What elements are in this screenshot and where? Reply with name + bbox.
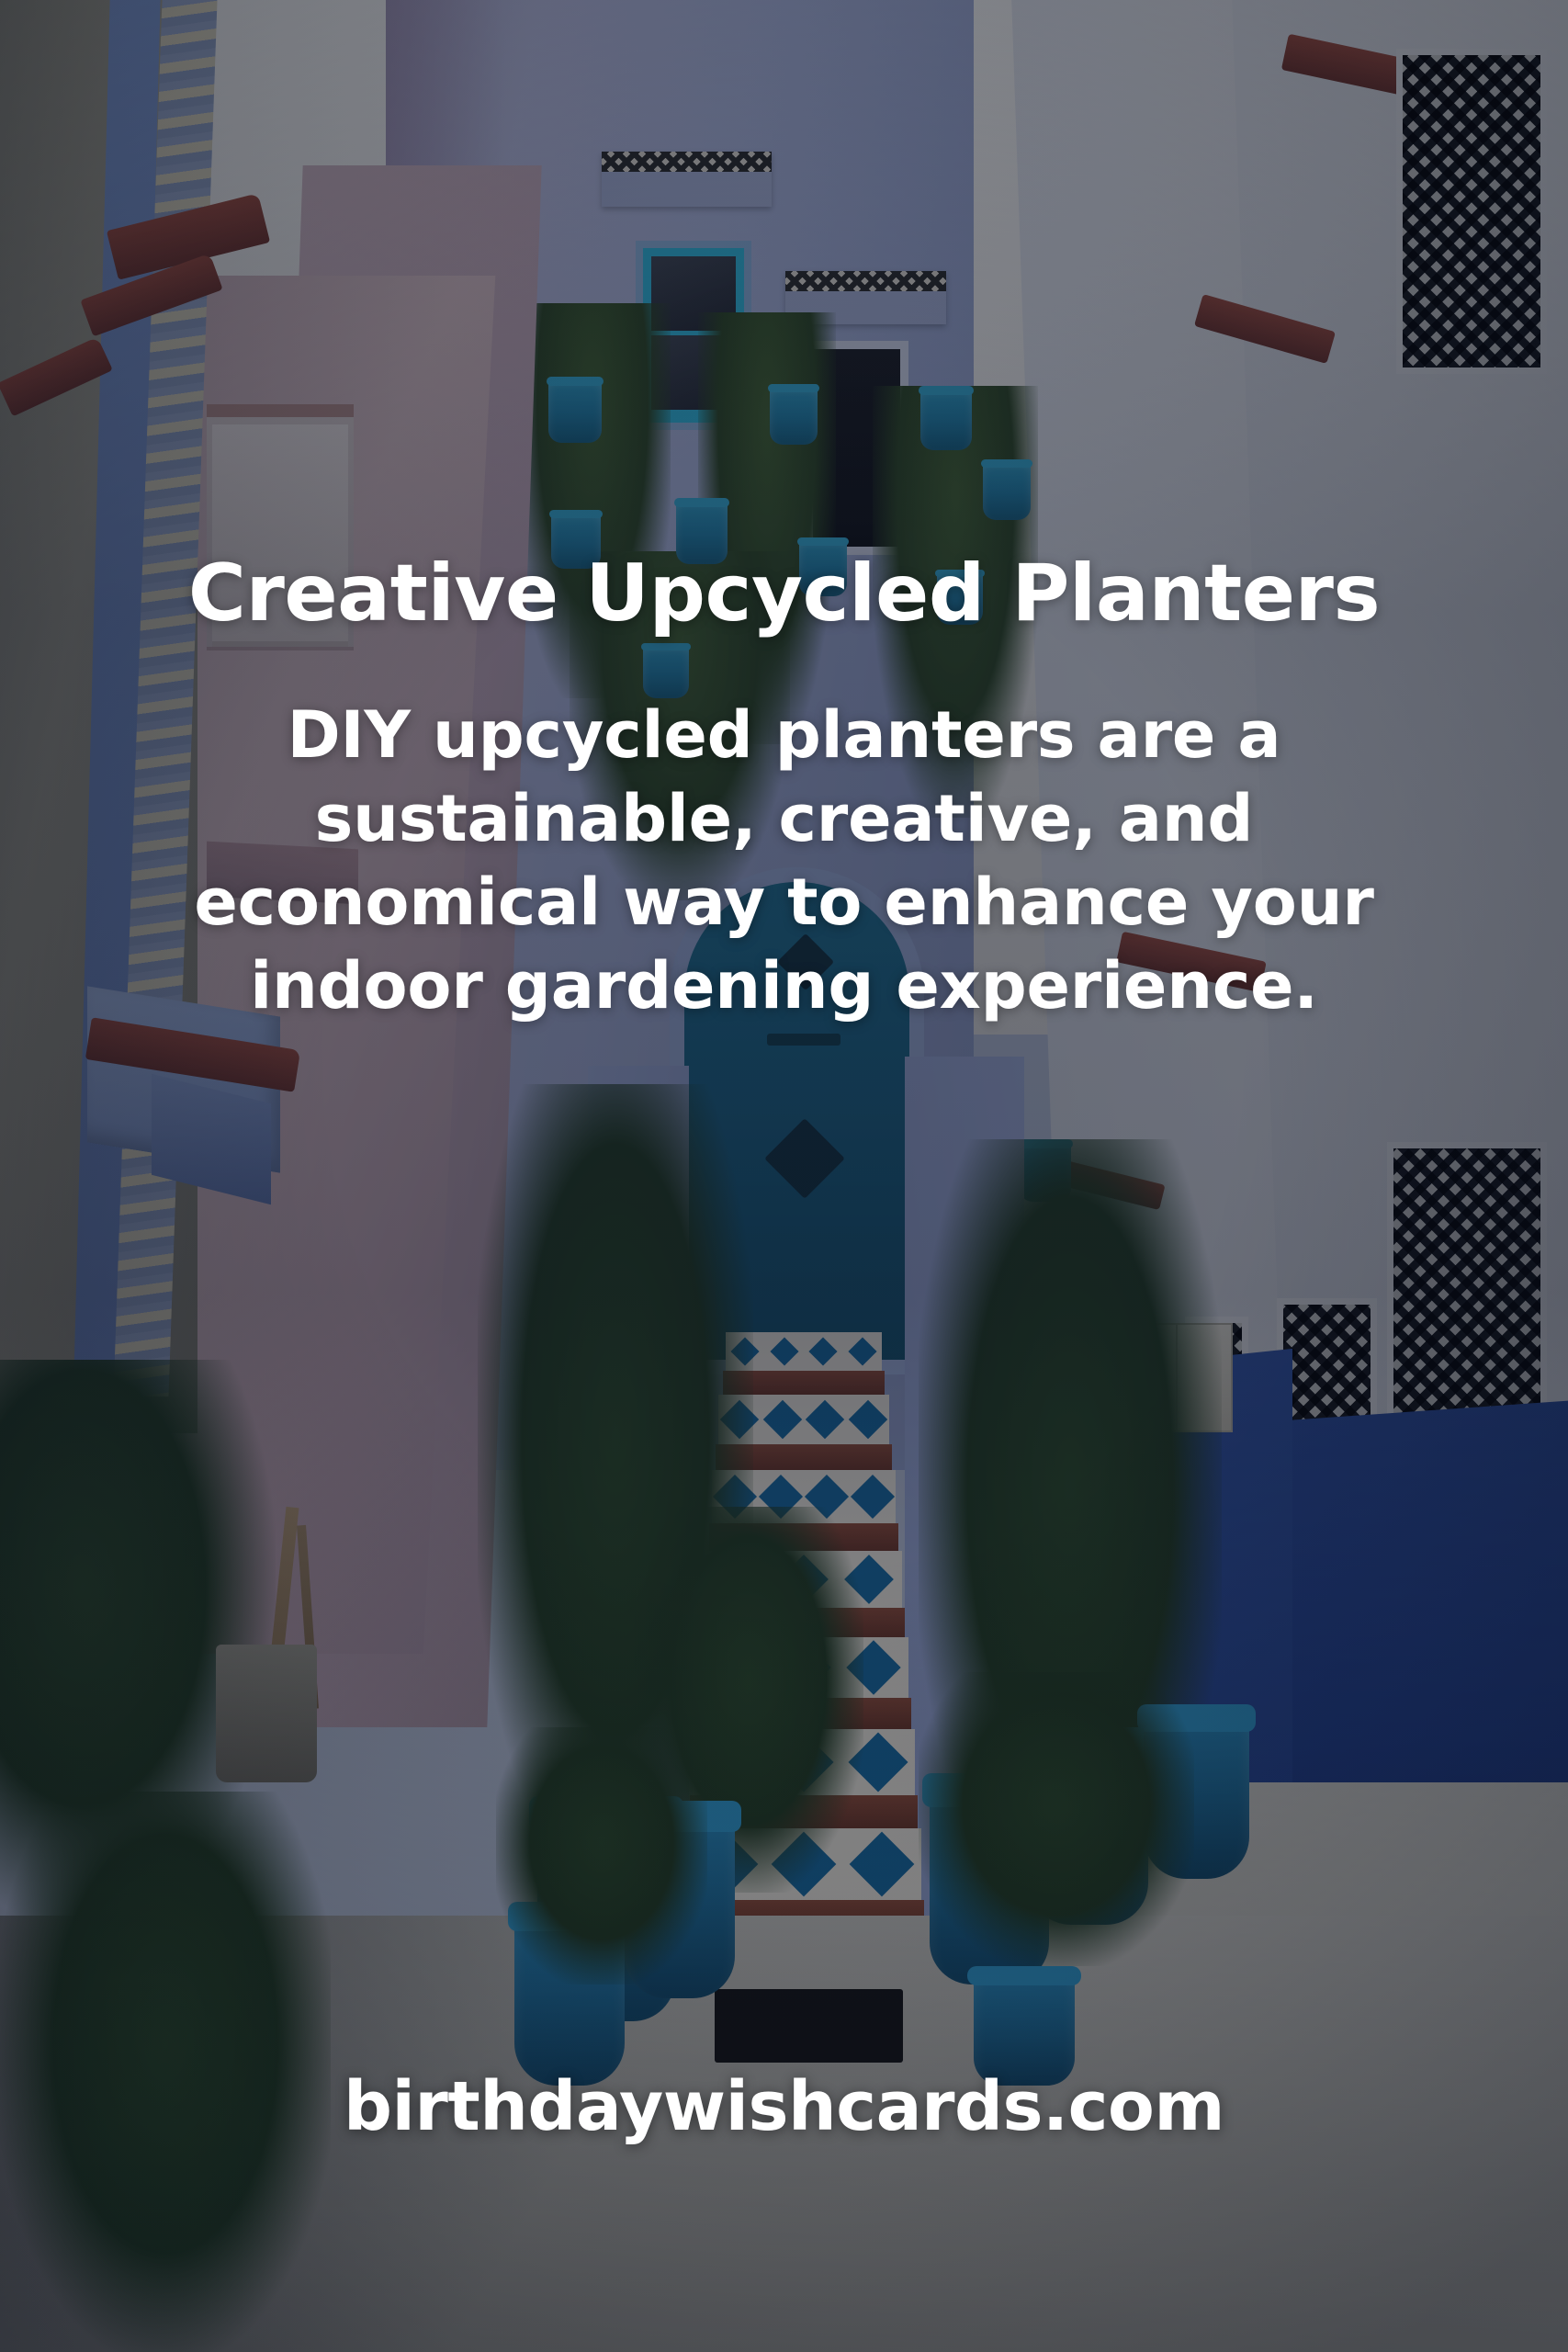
subtitle-block: DIY upcycled planters are a sustainable,… xyxy=(68,694,1501,1028)
subtitle-line-4: indoor gardening experience. xyxy=(68,944,1501,1028)
website-url-footer[interactable]: birthdaywishcards.com xyxy=(96,2067,1473,2146)
subtitle-line-2: sustainable, creative, and xyxy=(68,777,1501,861)
text-layer: Creative Upcycled Planters DIY upcycled … xyxy=(0,0,1568,2352)
pinterest-graphic-card: Creative Upcycled Planters DIY upcycled … xyxy=(0,0,1568,2352)
page-title: Creative Upcycled Planters xyxy=(96,551,1473,637)
subtitle-line-3: economical way to enhance your xyxy=(68,861,1501,944)
subtitle-line-1: DIY upcycled planters are a xyxy=(68,694,1501,777)
